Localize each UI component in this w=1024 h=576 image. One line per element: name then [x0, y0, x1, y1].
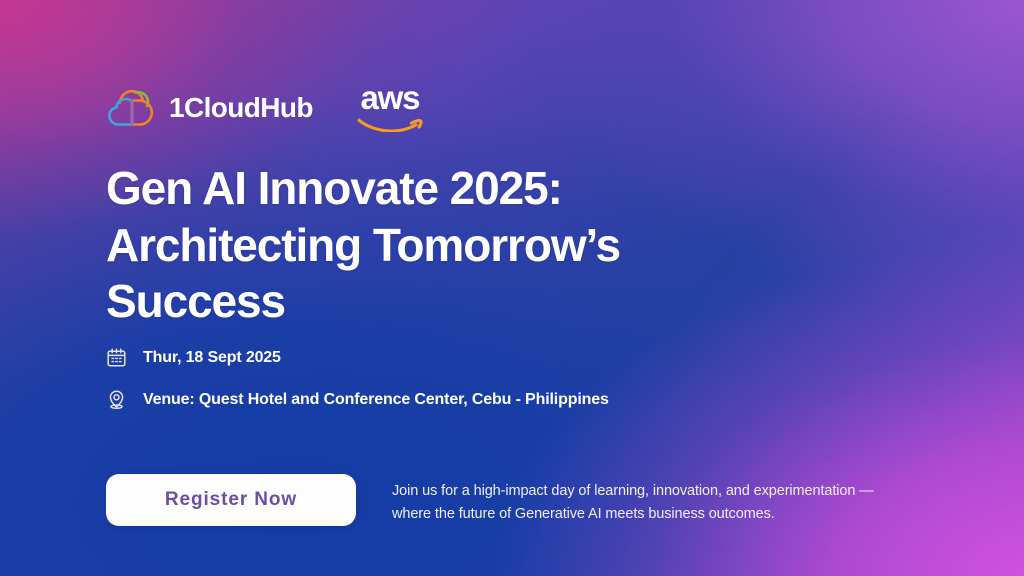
- brand-logo-row: 1CloudHub aws: [106, 82, 423, 134]
- event-date-text: Thur, 18 Sept 2025: [143, 348, 281, 367]
- event-date-row: Thur, 18 Sept 2025: [106, 347, 609, 368]
- register-now-button[interactable]: Register Now: [106, 474, 356, 526]
- aws-smile-icon: [357, 115, 423, 132]
- event-description: Join us for a high-impact day of learnin…: [392, 480, 874, 527]
- cta-section: Register Now Join us for a high-impact d…: [106, 474, 944, 527]
- onecloudhub-wordmark: 1CloudHub: [169, 94, 313, 122]
- event-details: Thur, 18 Sept 2025 Venue: Quest Hotel an…: [106, 347, 609, 410]
- onecloudhub-logo: 1CloudHub: [106, 88, 313, 128]
- cloud-logo-icon: [106, 88, 158, 128]
- event-banner: 1CloudHub aws Gen AI Innovate 2025: Arch…: [0, 0, 1024, 576]
- event-venue-text: Venue: Quest Hotel and Conference Center…: [143, 390, 609, 409]
- location-pin-icon: [106, 389, 127, 410]
- event-venue-row: Venue: Quest Hotel and Conference Center…: [106, 389, 609, 410]
- aws-wordmark: aws: [361, 82, 420, 113]
- calendar-icon: [106, 347, 127, 368]
- page-title: Gen AI Innovate 2025: Architecting Tomor…: [106, 160, 786, 330]
- aws-logo: aws: [357, 82, 423, 134]
